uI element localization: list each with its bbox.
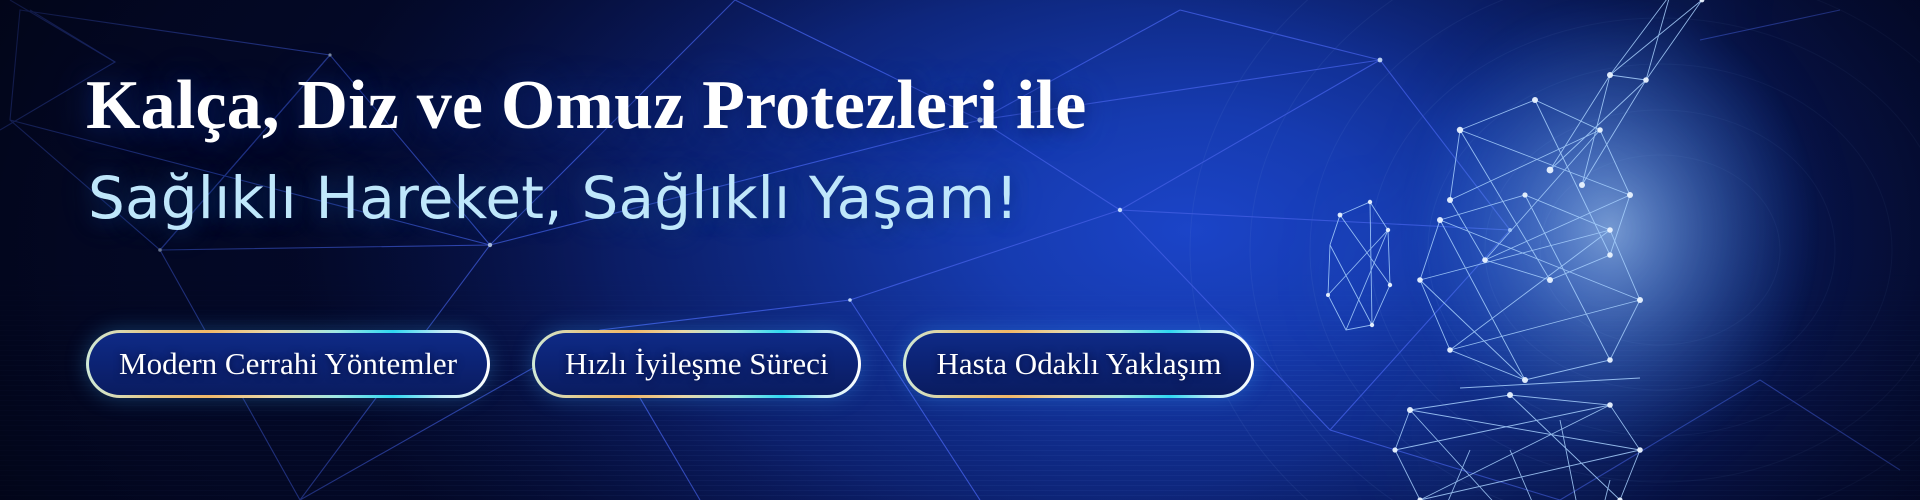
feature-pill-label: Modern Cerrahi Yöntemler [89,333,487,395]
feature-pill-list: Modern Cerrahi Yöntemler Hızlı İyileşme … [86,330,1254,398]
feature-pill-patient-focused[interactable]: Hasta Odaklı Yaklaşım [903,330,1254,398]
page-subtitle: Sağlıklı Hareket, Sağlıklı Yaşam! [88,168,1019,229]
banner-content: Kalça, Diz ve Omuz Protezleri ile Sağlık… [0,0,1300,500]
page-title: Kalça, Diz ve Omuz Protezleri ile [86,70,1086,142]
feature-pill-fast-recovery[interactable]: Hızlı İyileşme Süreci [532,330,861,398]
hero-banner: Kalça, Diz ve Omuz Protezleri ile Sağlık… [0,0,1920,500]
knee-joint-wireframe-icon [1310,0,1920,500]
feature-pill-label: Hasta Odaklı Yaklaşım [906,333,1251,395]
feature-pill-label: Hızlı İyileşme Süreci [535,333,858,395]
feature-pill-modern-surgery[interactable]: Modern Cerrahi Yöntemler [86,330,490,398]
